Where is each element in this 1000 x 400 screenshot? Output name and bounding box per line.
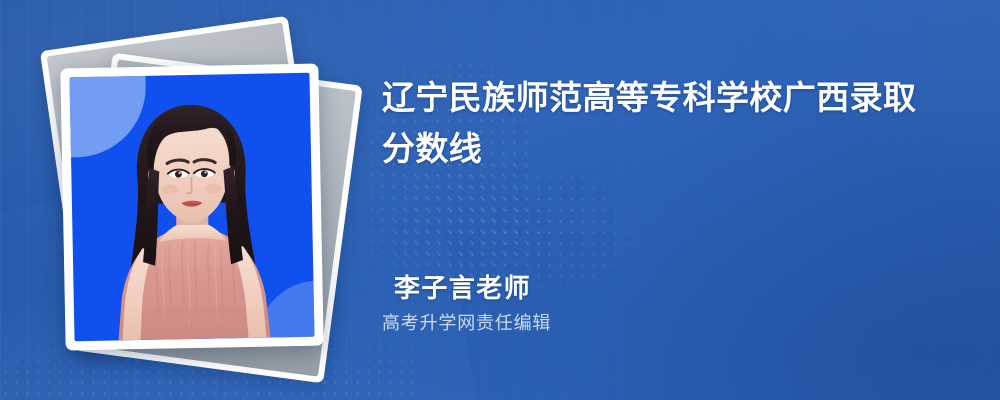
banner-text-column: 辽宁民族师范高等专科学校广西录取分数线 李子言老师 高考升学网责任编辑 bbox=[382, 0, 962, 400]
photo-card-front bbox=[60, 64, 323, 351]
photo-stack bbox=[48, 28, 348, 373]
page-title: 辽宁民族师范高等专科学校广西录取分数线 bbox=[382, 72, 947, 174]
portrait-illustration bbox=[69, 73, 314, 342]
author-block: 李子言老师 高考升学网责任编辑 bbox=[382, 272, 551, 336]
portrait-photo bbox=[69, 73, 314, 342]
author-role: 高考升学网责任编辑 bbox=[382, 310, 551, 336]
article-cover-banner: 辽宁民族师范高等专科学校广西录取分数线 李子言老师 高考升学网责任编辑 bbox=[0, 0, 1000, 400]
author-name: 李子言老师 bbox=[394, 272, 551, 304]
